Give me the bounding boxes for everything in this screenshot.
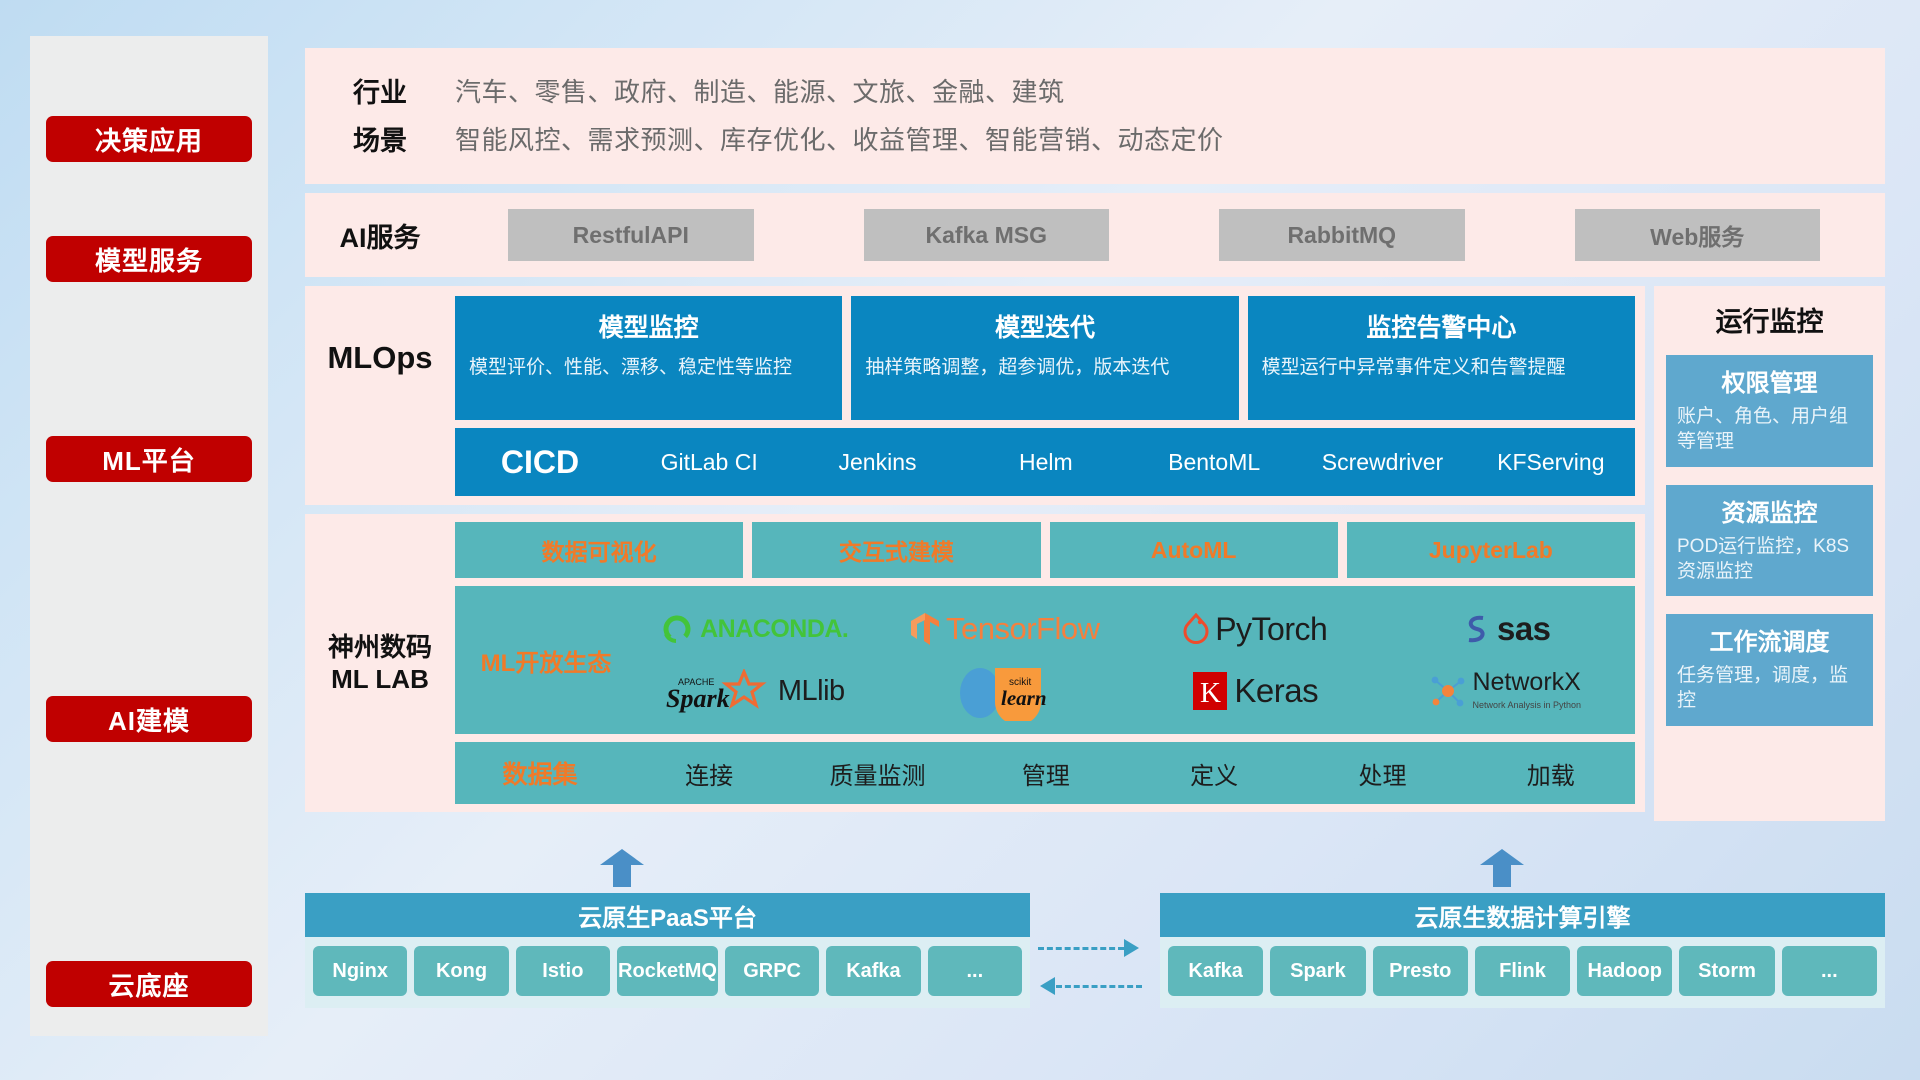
dataset-label: 数据集 [455,755,625,791]
up-arrow-icon-paas [600,849,644,887]
arrow-left-icon [1040,977,1055,995]
ml-lab-tab-list: 数据可视化 交互式建模 AutoML JupyterLab [455,522,1635,578]
cicd-label: CICD [455,444,625,481]
compute-chip-spark[interactable]: Spark [1270,946,1365,996]
middle-section: MLOps 模型监控 模型评价、性能、漂移、稳定性等监控 模型迭代 抽样策略调整… [305,286,1885,821]
rail-item-model-service[interactable]: 模型服务 [46,236,252,282]
tensorflow-logo: TensorFlow [910,611,1100,647]
compute-chip-presto[interactable]: Presto [1373,946,1468,996]
cicd-item-helm[interactable]: Helm [962,451,1130,474]
anaconda-logo: ANACONDA. [660,612,848,646]
mlops-card-model-iteration[interactable]: 模型迭代 抽样策略调整，超参调优，版本迭代 [851,296,1238,420]
pytorch-icon [1183,613,1209,645]
compute-chip-kafka[interactable]: Kafka [1168,946,1263,996]
card-desc: 任务管理，调度，监控 [1677,663,1862,714]
card-title: 模型监控 [469,308,828,344]
networkx-logo: NetworkX Network Analysis in Python [1430,669,1581,712]
tab-interactive-modeling[interactable]: 交互式建模 [752,522,1040,578]
ml-platform-column: MLOps 模型监控 模型评价、性能、漂移、稳定性等监控 模型迭代 抽样策略调整… [305,286,1645,821]
dataset-item-connect[interactable]: 连接 [625,756,793,791]
anaconda-logo-text: ANACONDA. [700,615,848,644]
spark-icon: APACHE Spark [664,669,772,713]
ml-ecosystem-logo-grid: ANACONDA. TensorFlow [631,599,1629,721]
dataset-item-quality-monitoring[interactable]: 质量监测 [793,756,961,791]
card-desc: POD运行监控，K8S资源监控 [1677,534,1862,585]
card-desc: 抽样策略调整，超参调优，版本迭代 [865,355,1224,381]
paas-chip-list: Nginx Kong Istio RocketMQ GRPC Kafka ... [305,937,1030,1008]
rail-item-ai-modeling[interactable]: AI建模 [46,696,252,742]
spark-mllib-logo: APACHE Spark MLlib [664,669,845,713]
dataset-item-processing[interactable]: 处理 [1298,756,1466,791]
dataset-item-definition[interactable]: 定义 [1130,756,1298,791]
mlops-card-model-monitoring[interactable]: 模型监控 模型评价、性能、漂移、稳定性等监控 [455,296,842,420]
arrow-right-icon [1124,939,1139,957]
compute-chip-flink[interactable]: Flink [1475,946,1570,996]
scenario-value: 智能风控、需求预测、库存优化、收益管理、智能营销、动态定价 [455,120,1224,157]
monitor-card-permission[interactable]: 权限管理 账户、角色、用户组等管理 [1666,355,1873,467]
networkx-icon [1430,673,1466,709]
compute-chip-hadoop[interactable]: Hadoop [1577,946,1672,996]
ml-lab-column: 数据可视化 交互式建模 AutoML JupyterLab ML开放生态 [455,522,1645,804]
card-title: 模型迭代 [865,308,1224,344]
anaconda-icon [660,612,694,646]
cicd-item-screwdriver[interactable]: Screwdriver [1298,451,1466,474]
tab-jupyterlab[interactable]: JupyterLab [1347,522,1635,578]
ml-ecosystem-label: ML开放生态 [461,643,631,678]
dashed-line-left [1056,985,1142,988]
cicd-row: CICD GitLab CI Jenkins Helm BentoML Scre… [455,428,1635,496]
bidirectional-connector [1030,893,1160,1003]
card-title: 权限管理 [1677,363,1862,398]
tensorflow-logo-text: TensorFlow [946,611,1100,647]
dataset-row: 数据集 连接 质量监测 管理 定义 处理 加载 [455,742,1635,804]
spark-mllib-logo-text: MLlib [778,675,845,708]
dashed-line-right [1038,947,1124,950]
dataset-item-loading[interactable]: 加载 [1467,756,1635,791]
ai-service-box-restfulapi[interactable]: RestfulAPI [508,209,754,261]
paas-chip-kafka[interactable]: Kafka [826,946,920,996]
industry-value: 汽车、零售、政府、制造、能源、文旅、金融、建筑 [455,72,1065,109]
keras-icon: K [1192,671,1228,711]
ai-service-band: AI服务 RestfulAPI Kafka MSG RabbitMQ Web服务 [305,193,1885,277]
card-title: 资源监控 [1677,493,1862,528]
cicd-item-kfserving[interactable]: KFServing [1467,451,1635,474]
monitor-card-resource[interactable]: 资源监控 POD运行监控，K8S资源监控 [1666,485,1873,597]
paas-chip-istio[interactable]: Istio [516,946,610,996]
svg-text:Spark: Spark [666,684,730,713]
ml-ecosystem-row: ML开放生态 ANACONDA. [455,586,1635,734]
ml-lab-label: 神州数码 ML LAB [305,631,455,696]
ml-lab-label-line1: 神州数码 [305,631,455,664]
paas-platform-block: 云原生PaaS平台 Nginx Kong Istio RocketMQ GRPC… [305,893,1030,1008]
compute-engine-block: 云原生数据计算引擎 Kafka Spark Presto Flink Hadoo… [1160,893,1885,1008]
left-rail: 决策应用 模型服务 ML平台 AI建模 云底座 [30,36,268,1036]
card-desc: 模型评价、性能、漂移、稳定性等监控 [469,355,828,381]
paas-chip-kong[interactable]: Kong [414,946,508,996]
sas-logo-text: sas [1497,610,1551,648]
compute-engine-title: 云原生数据计算引擎 [1160,893,1885,937]
keras-logo: K Keras [1192,671,1318,711]
monitor-card-workflow[interactable]: 工作流调度 任务管理，调度，监控 [1666,614,1873,726]
ai-service-box-list: RestfulAPI Kafka MSG RabbitMQ Web服务 [455,209,1885,261]
mlops-cards-row: MLOps 模型监控 模型评价、性能、漂移、稳定性等监控 模型迭代 抽样策略调整… [305,286,1645,428]
ai-service-box-web-service[interactable]: Web服务 [1575,209,1821,261]
sas-icon [1461,612,1491,646]
mlops-band: MLOps 模型监控 模型评价、性能、漂移、稳定性等监控 模型迭代 抽样策略调整… [305,286,1645,505]
compute-chip-more[interactable]: ... [1782,946,1877,996]
rail-item-label: AI建模 [108,701,190,738]
cicd-item-gitlab-ci[interactable]: GitLab CI [625,451,793,474]
runtime-monitor-panel: 运行监控 权限管理 账户、角色、用户组等管理 资源监控 POD运行监控，K8S资… [1654,286,1885,821]
mlops-card-alert-center[interactable]: 监控告警中心 模型运行中异常事件定义和告警提醒 [1248,296,1635,420]
tensorflow-icon [910,611,940,647]
pytorch-logo-text: PyTorch [1215,611,1327,648]
card-title: 监控告警中心 [1262,308,1621,344]
up-arrow-icon-compute [1480,849,1524,887]
card-desc: 模型运行中异常事件定义和告警提醒 [1262,355,1621,381]
industry-row: 行业 汽车、零售、政府、制造、能源、文旅、金融、建筑 [305,66,1885,114]
industry-label: 行业 [305,71,455,110]
cloud-base-section: 云原生PaaS平台 Nginx Kong Istio RocketMQ GRPC… [305,893,1885,1043]
paas-chip-rocketmq[interactable]: RocketMQ [617,946,718,996]
svg-text:K: K [1200,677,1221,709]
runtime-monitor-title: 运行监控 [1666,300,1873,339]
main-content: 行业 汽车、零售、政府、制造、能源、文旅、金融、建筑 场景 智能风控、需求预测、… [305,48,1885,821]
paas-chip-more[interactable]: ... [928,946,1022,996]
dataset-item-management[interactable]: 管理 [962,756,1130,791]
rail-item-label: 决策应用 [95,121,203,158]
ai-service-box-kafka-msg[interactable]: Kafka MSG [864,209,1110,261]
paas-chip-grpc[interactable]: GRPC [725,946,819,996]
tab-data-visualization[interactable]: 数据可视化 [455,522,743,578]
compute-chip-storm[interactable]: Storm [1679,946,1774,996]
cicd-item-jenkins[interactable]: Jenkins [793,451,961,474]
rail-item-label: ML平台 [102,441,196,478]
rail-item-decision-app[interactable]: 决策应用 [46,116,252,162]
scikit-learn-icon: scikit learn [953,661,1057,721]
sas-logo: sas [1461,610,1551,648]
pytorch-logo: PyTorch [1183,611,1327,648]
rail-item-label: 云底座 [108,966,189,1003]
mlops-label: MLOps [305,340,455,376]
cicd-item-bentoml[interactable]: BentoML [1130,451,1298,474]
compute-chip-list: Kafka Spark Presto Flink Hadoop Storm ..… [1160,937,1885,1008]
ai-service-label: AI服务 [305,216,455,255]
svg-text:learn: learn [1001,686,1047,710]
networkx-logo-text: NetworkX Network Analysis in Python [1472,669,1581,712]
rail-item-cloud-base[interactable]: 云底座 [46,961,252,1007]
paas-platform-title: 云原生PaaS平台 [305,893,1030,937]
ml-lab-band: 神州数码 ML LAB 数据可视化 交互式建模 AutoML JupyterLa… [305,514,1645,812]
tab-automl[interactable]: AutoML [1050,522,1338,578]
keras-logo-text: Keras [1234,672,1318,710]
ml-lab-label-line2: ML LAB [305,663,455,696]
mlops-card-list: 模型监控 模型评价、性能、漂移、稳定性等监控 模型迭代 抽样策略调整，超参调优，… [455,296,1645,420]
card-desc: 账户、角色、用户组等管理 [1677,404,1862,455]
card-title: 工作流调度 [1677,622,1862,657]
scenario-label: 场景 [305,119,455,158]
rail-item-ml-platform[interactable]: ML平台 [46,436,252,482]
scikit-learn-logo: scikit learn [953,661,1057,721]
decision-app-band: 行业 汽车、零售、政府、制造、能源、文旅、金融、建筑 场景 智能风控、需求预测、… [305,48,1885,184]
rail-item-label: 模型服务 [95,241,203,278]
scenario-row: 场景 智能风控、需求预测、库存优化、收益管理、智能营销、动态定价 [305,114,1885,162]
paas-chip-nginx[interactable]: Nginx [313,946,407,996]
ai-service-box-rabbitmq[interactable]: RabbitMQ [1219,209,1465,261]
